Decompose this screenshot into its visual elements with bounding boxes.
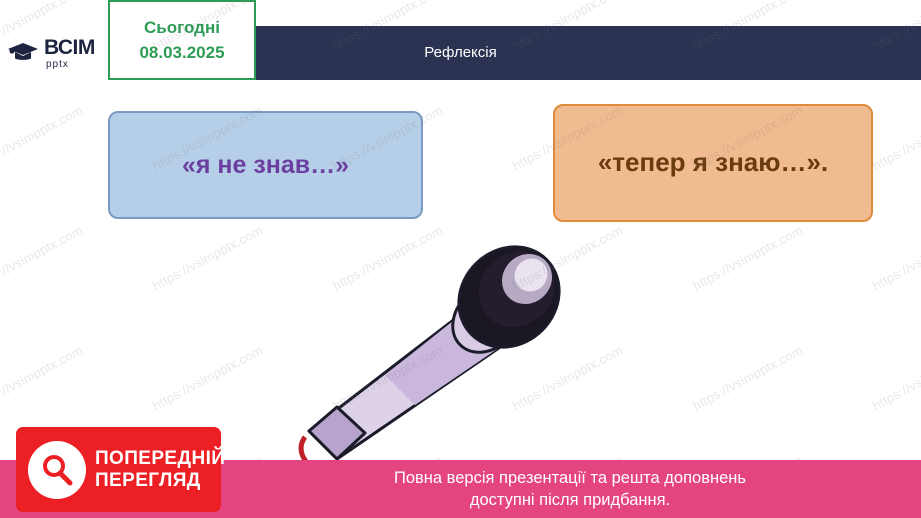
logo-title: ВСІМ (44, 37, 95, 58)
reflection-card-left: «я не знав…» (108, 111, 423, 219)
microphone-illustration (265, 245, 565, 485)
preview-badge-text: ПОПЕРЕДНІЙ ПЕРЕГЛЯД (95, 448, 225, 491)
presentation-slide: Рефлексія ВСІМ pptx Сьогодні 08.03.2025 … (0, 0, 921, 518)
reflection-card-right: «тепер я знаю…». (553, 104, 873, 222)
watermark-text: https://vsimpptx.com (690, 342, 805, 413)
purchase-banner-text: Повна версія презентації та решта доповн… (225, 460, 915, 518)
watermark-text: https://vsimpptx.com (690, 222, 805, 293)
watermark-text: https://vsimpptx.com (0, 222, 85, 293)
preview-badge: ПОПЕРЕДНІЙ ПЕРЕГЛЯД (16, 427, 221, 512)
purchase-banner-line1: Повна версія презентації та решта доповн… (394, 467, 746, 489)
reflection-card-left-text: «я не знав…» (182, 151, 349, 180)
brand-logo: ВСІМ pptx (0, 26, 108, 80)
watermark-text: https://vsimpptx.com (0, 342, 85, 413)
watermark-text: https://vsimpptx.com (870, 342, 921, 413)
date-badge: Сьогодні 08.03.2025 (108, 0, 256, 80)
watermark-text: https://vsimpptx.com (870, 102, 921, 173)
watermark-text: https://vsimpptx.com (870, 222, 921, 293)
preview-badge-line1: ПОПЕРЕДНІЙ (95, 448, 225, 469)
purchase-banner-line2: доступні після придбання. (470, 489, 670, 511)
magnifier-icon (28, 441, 86, 499)
date-badge-date: 08.03.2025 (139, 43, 224, 63)
date-badge-label: Сьогодні (144, 18, 220, 38)
preview-badge-line2: ПЕРЕГЛЯД (95, 470, 225, 491)
logo-subtitle: pptx (46, 60, 95, 70)
watermark-text: https://vsimpptx.com (0, 102, 85, 173)
graduation-cap-icon (6, 38, 40, 69)
watermark-text: https://vsimpptx.com (150, 222, 265, 293)
watermark-text: https://vsimpptx.com (150, 342, 265, 413)
reflection-card-right-text: «тепер я знаю…». (598, 145, 828, 180)
